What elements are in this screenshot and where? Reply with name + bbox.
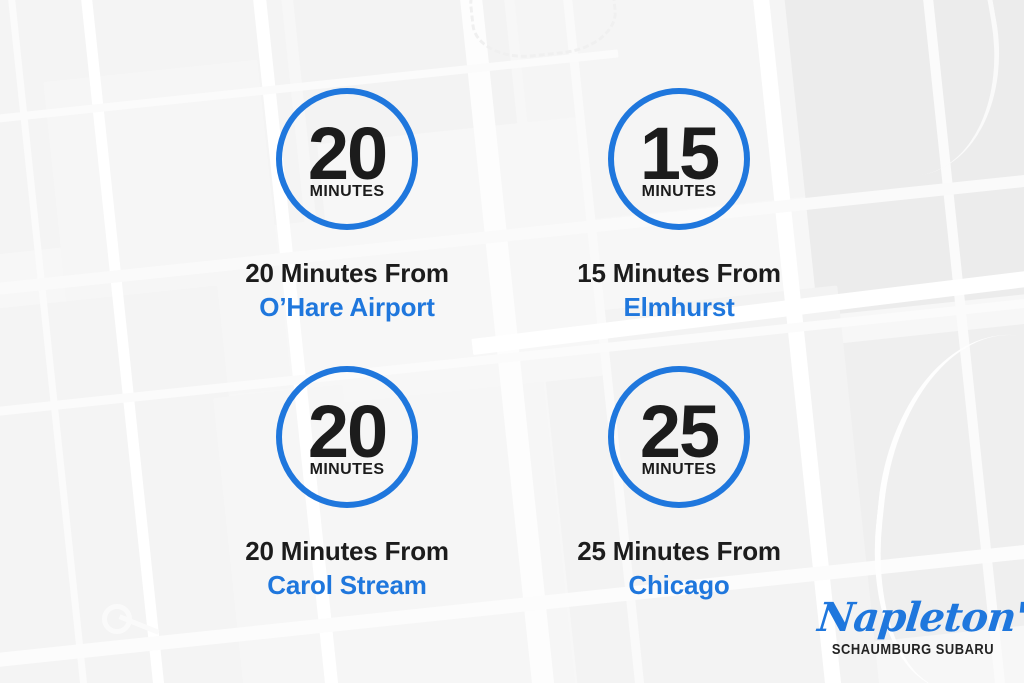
- minutes-badge: 25 MINUTES: [608, 366, 750, 508]
- badge-number: 15: [640, 122, 718, 186]
- logo-wordmark: Napleton's: [816, 596, 1011, 640]
- badge-unit-label: MINUTES: [642, 462, 717, 478]
- drive-times-graphic: 20 MINUTES 20 Minutes From O’Hare Airpor…: [0, 0, 1024, 683]
- drive-time-card-elmhurst: 15 MINUTES 15 Minutes From Elmhurst: [469, 88, 889, 324]
- card-caption: 25 Minutes From Chicago: [469, 534, 889, 602]
- dealer-logo: Napleton's SCHAUMBURG SUBARU: [818, 596, 1008, 658]
- logo-subtitle: SCHAUMBURG SUBARU: [831, 641, 994, 658]
- drive-time-card-chicago: 25 MINUTES 25 Minutes From Chicago: [469, 366, 889, 602]
- badge-number: 20: [308, 400, 386, 464]
- caption-primary: 25 Minutes From: [469, 534, 889, 568]
- caption-primary: 15 Minutes From: [469, 256, 889, 290]
- drive-time-card-grid: 20 MINUTES 20 Minutes From O’Hare Airpor…: [0, 0, 1024, 683]
- badge-unit-label: MINUTES: [310, 184, 385, 200]
- minutes-badge: 15 MINUTES: [608, 88, 750, 230]
- card-caption: 15 Minutes From Elmhurst: [469, 256, 889, 324]
- caption-location: Elmhurst: [469, 290, 889, 324]
- badge-unit-label: MINUTES: [642, 184, 717, 200]
- badge-number: 25: [640, 400, 718, 464]
- badge-number: 20: [308, 122, 386, 186]
- badge-unit-label: MINUTES: [310, 462, 385, 478]
- minutes-badge: 20 MINUTES: [276, 366, 418, 508]
- minutes-badge: 20 MINUTES: [276, 88, 418, 230]
